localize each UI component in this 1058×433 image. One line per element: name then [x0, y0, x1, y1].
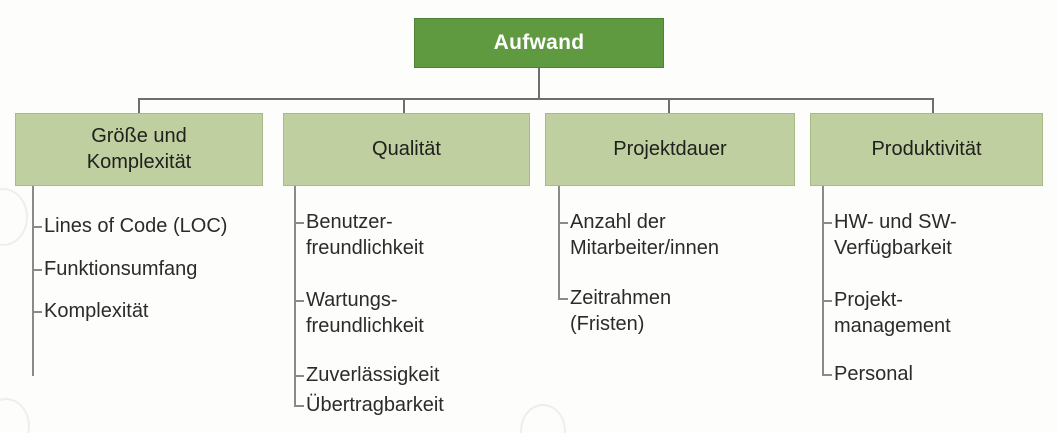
leaf-item[interactable]: Anzahl der Mitarbeiter/innen	[570, 209, 820, 261]
connector-tick-3-2	[558, 298, 568, 300]
connector-tick-1-2	[32, 269, 42, 271]
root-node-label: Aufwand	[494, 31, 585, 55]
diagram-canvas: Aufwand Größe und Komplexität Lines of C…	[0, 0, 1058, 433]
leaf-item[interactable]: Projekt- management	[834, 287, 1054, 339]
leaf-item[interactable]: Lines of Code (LOC)	[44, 213, 284, 239]
connector-root-bus	[138, 98, 934, 100]
scan-artifact-circle-left	[0, 188, 28, 246]
branch-label-line: Qualität	[372, 137, 441, 163]
branch-label-line: Größe und	[91, 124, 187, 150]
connector-root-stem	[538, 68, 540, 99]
connector-drop-2	[403, 98, 405, 114]
connector-drop-4	[932, 98, 934, 114]
connector-tick-4-3	[822, 374, 832, 376]
scan-artifact-circle-bottom-left	[0, 398, 30, 433]
connector-spine-3	[558, 186, 560, 300]
branch-node-projektdauer[interactable]: Projektdauer	[545, 113, 795, 186]
connector-spine-1	[32, 186, 34, 376]
connector-spine-4	[822, 186, 824, 376]
root-node-aufwand[interactable]: Aufwand	[414, 18, 664, 68]
branch-node-groesse-und-komplexitaet[interactable]: Größe und Komplexität	[15, 113, 263, 186]
connector-drop-3	[668, 98, 670, 114]
connector-tick-2-1	[294, 222, 304, 224]
branch-node-produktivitaet[interactable]: Produktivität	[810, 113, 1043, 186]
leaf-item[interactable]: Komplexität	[44, 298, 284, 324]
leaf-item[interactable]: Übertragbarkeit	[306, 392, 536, 418]
connector-drop-1	[138, 98, 140, 114]
connector-spine-2	[294, 186, 296, 406]
connector-tick-1-3	[32, 311, 42, 313]
leaf-item[interactable]: Benutzer- freundlichkeit	[306, 209, 536, 261]
connector-tick-1-1	[32, 226, 42, 228]
connector-tick-2-4	[294, 405, 304, 407]
connector-tick-3-1	[558, 222, 568, 224]
leaf-item[interactable]: HW- und SW- Verfügbarkeit	[834, 209, 1054, 261]
branch-label-line: Produktivität	[871, 137, 981, 163]
branch-label-line: Projektdauer	[613, 137, 726, 163]
leaf-item[interactable]: Wartungs- freundlichkeit	[306, 287, 536, 339]
leaf-item[interactable]: Funktionsumfang	[44, 256, 284, 282]
connector-tick-2-2	[294, 300, 304, 302]
branch-label-line: Komplexität	[87, 150, 192, 176]
connector-tick-2-3	[294, 375, 304, 377]
connector-tick-4-1	[822, 222, 832, 224]
leaf-item[interactable]: Zeitrahmen (Fristen)	[570, 285, 820, 337]
connector-tick-4-2	[822, 300, 832, 302]
leaf-item[interactable]: Zuverlässigkeit	[306, 362, 536, 388]
leaf-item[interactable]: Personal	[834, 361, 1054, 387]
branch-node-qualitaet[interactable]: Qualität	[283, 113, 530, 186]
